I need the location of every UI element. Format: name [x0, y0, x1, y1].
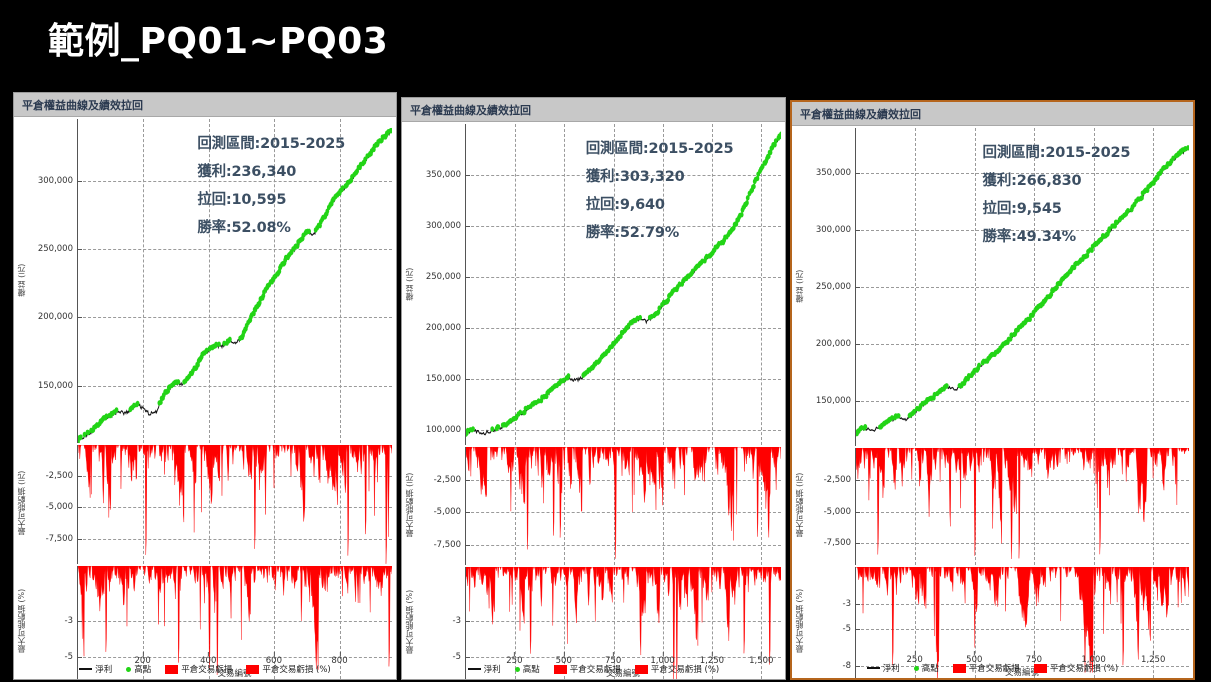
drawdown-abs-plot-area: -2,500-5,000-7,500 — [465, 447, 781, 565]
legend-peak-swatch-icon — [914, 666, 919, 671]
legend-closed-loss-pct: 平倉交易虧損 (%) — [635, 663, 719, 675]
y-tick-label: 350,000 — [426, 170, 466, 180]
drawdown-abs-plot-area: -2,500-5,000-7,500 — [855, 448, 1189, 565]
legend-peak: 高點 — [515, 663, 540, 675]
y-tick-label: -7,500 — [46, 534, 78, 544]
drawdown-abs-plot-area: -2,500-5,000-7,500 — [77, 445, 392, 564]
legend-closed-loss-pct-label: 平倉交易虧損 (%) — [651, 663, 719, 675]
drawdown-abs-svg — [856, 448, 1189, 565]
legend-peak-swatch-icon — [126, 667, 131, 672]
legend-net-profit-label: 淨利 — [883, 662, 900, 674]
y-tick-label: -7,500 — [434, 540, 466, 550]
stat-profit: 獲利:266,830 — [983, 169, 1131, 190]
panel-header-pq03: 平倉權益曲線及績效拉回 — [792, 102, 1193, 126]
legend-closed-loss-swatch-icon — [165, 665, 178, 674]
legend-closed-loss-label: 平倉交易虧損 — [969, 662, 1020, 674]
peak-marker — [79, 434, 83, 439]
legend-peak: 高點 — [126, 663, 151, 675]
stats-annotation-pq02: 回測區間:2015-2025獲利:303,320拉回:9,640勝率:52.79… — [586, 137, 734, 249]
drawdown-abs-subplot-pq03: 最大可能虧損 (元)-2,500-5,000-7,500 — [792, 446, 1193, 565]
stat-winrate: 勝率:49.34% — [983, 225, 1131, 246]
drawdown-abs-svg — [466, 447, 781, 565]
legend-closed-loss-swatch-icon — [953, 664, 966, 673]
y-tick-label: 250,000 — [426, 272, 466, 282]
legend-closed-loss-label: 平倉交易虧損 — [570, 663, 621, 675]
equity-subplot-pq02: 權益 (元)100,000150,000200,000250,000300,00… — [402, 122, 785, 445]
peak-marker — [945, 383, 949, 388]
chart-legend-pq03: 淨利高點平倉交易虧損平倉交易虧損 (%) — [792, 660, 1193, 676]
y-tick-label: 200,000 — [426, 323, 466, 333]
legend-peak-swatch-icon — [515, 667, 520, 672]
drawdown-abs-svg — [78, 445, 392, 564]
y-tick-label: 250,000 — [816, 282, 856, 292]
y-tick-label: 150,000 — [816, 396, 856, 406]
peak-marker — [115, 407, 119, 412]
y-tick-label: -5 — [843, 624, 856, 634]
panel-body-pq01: 權益 (元)150,000200,000250,000300,000回測區間:2… — [14, 117, 396, 679]
stat-profit: 獲利:303,320 — [586, 165, 734, 186]
drawdown-pct-y-axis-title: 最大可能虧損 (%) — [794, 589, 805, 653]
legend-closed-loss: 平倉交易虧損 — [554, 663, 621, 675]
peak-marker — [490, 426, 494, 431]
peak-marker — [497, 424, 501, 429]
legend-net-profit-swatch-icon — [468, 668, 481, 670]
stat-period: 回測區間:2015-2025 — [586, 137, 734, 158]
chart-stack-pq03: 權益 (元)150,000200,000250,000300,000350,00… — [792, 126, 1193, 678]
y-tick-label: 350,000 — [816, 168, 856, 178]
panel-body-pq02: 權益 (元)100,000150,000200,000250,000300,00… — [402, 122, 785, 679]
peak-marker — [176, 379, 180, 384]
legend-peak-label: 高點 — [523, 663, 540, 675]
panel-body-pq03: 權益 (元)150,000200,000250,000300,000350,00… — [792, 126, 1193, 678]
y-tick-label: -3 — [65, 616, 78, 626]
drawdown-abs-subplot-pq01: 最大可能虧損 (元)-2,500-5,000-7,500 — [14, 443, 396, 564]
y-tick-label: 300,000 — [816, 225, 856, 235]
legend-peak-label: 高點 — [134, 663, 151, 675]
legend-closed-loss: 平倉交易虧損 — [165, 663, 232, 675]
legend-closed-loss: 平倉交易虧損 — [953, 662, 1020, 674]
stat-winrate: 勝率:52.79% — [586, 221, 734, 242]
legend-peak-label: 高點 — [922, 662, 939, 674]
chart-panel-pq02[interactable]: 平倉權益曲線及績效拉回權益 (元)100,000150,000200,00025… — [401, 97, 786, 680]
y-tick-label: -5,000 — [46, 502, 78, 512]
y-tick-label: 100,000 — [426, 425, 466, 435]
equity-y-axis-title: 權益 (元) — [404, 267, 415, 300]
stat-drawdown: 拉回:9,640 — [586, 193, 734, 214]
drawdown-abs-y-axis-title: 最大可能虧損 (元) — [404, 473, 415, 538]
legend-net-profit: 淨利 — [79, 663, 112, 675]
legend-net-profit-label: 淨利 — [484, 663, 501, 675]
legend-closed-loss-pct-swatch-icon — [246, 665, 259, 674]
peak-marker — [638, 315, 642, 320]
legend-closed-loss-pct-swatch-icon — [635, 665, 648, 674]
legend-net-profit-swatch-icon — [79, 668, 92, 670]
peak-marker — [567, 373, 571, 378]
chart-panel-pq01[interactable]: 平倉權益曲線及績效拉回權益 (元)150,000200,000250,00030… — [13, 92, 397, 680]
peak-marker — [745, 200, 749, 205]
drawdown-abs-y-axis-title: 最大可能虧損 (元) — [794, 473, 805, 538]
peak-marker — [897, 413, 901, 418]
page-title: 範例_PQ01~PQ03 — [48, 12, 388, 64]
panel-header-pq02: 平倉權益曲線及績效拉回 — [402, 98, 785, 122]
y-tick-label: 150,000 — [38, 381, 78, 391]
stat-period: 回測區間:2015-2025 — [983, 141, 1131, 162]
drawdown-pct-y-axis-title: 最大可能虧損 (%) — [16, 589, 27, 653]
legend-closed-loss-pct-label: 平倉交易虧損 (%) — [262, 663, 330, 675]
y-tick-label: 150,000 — [426, 374, 466, 384]
y-tick-label: -2,500 — [824, 475, 856, 485]
equity-plot-area: 150,000200,000250,000300,000350,000回測區間:… — [855, 128, 1189, 446]
equity-y-axis-title: 權益 (元) — [16, 264, 27, 297]
legend-net-profit: 淨利 — [468, 663, 501, 675]
legend-net-profit-label: 淨利 — [95, 663, 112, 675]
chart-panel-pq03[interactable]: 平倉權益曲線及績效拉回權益 (元)150,000200,000250,00030… — [790, 100, 1195, 680]
legend-closed-loss-swatch-icon — [554, 665, 567, 674]
peak-marker — [740, 212, 744, 217]
equity-plot-area: 150,000200,000250,000300,000回測區間:2015-20… — [77, 119, 392, 443]
drawdown-abs-y-axis-title: 最大可能虧損 (元) — [16, 471, 27, 536]
chart-panels-row: 平倉權益曲線及績效拉回權益 (元)150,000200,000250,00030… — [13, 92, 1199, 680]
legend-closed-loss-pct-swatch-icon — [1034, 664, 1047, 673]
legend-peak: 高點 — [914, 662, 939, 674]
peak-marker — [228, 337, 232, 342]
drawdown-pct-y-axis-title: 最大可能虧損 (%) — [404, 590, 415, 654]
peak-marker — [518, 410, 522, 415]
y-tick-label: 200,000 — [816, 339, 856, 349]
peak-marker — [977, 363, 981, 368]
stat-drawdown: 拉回:9,545 — [983, 197, 1131, 218]
drawdown-abs-area — [78, 445, 392, 564]
chart-legend-pq02: 淨利高點平倉交易虧損平倉交易虧損 (%) — [402, 661, 785, 677]
y-tick-label: -5,000 — [824, 507, 856, 517]
peak-marker — [752, 184, 756, 189]
y-tick-label: 300,000 — [38, 176, 78, 186]
stat-profit: 獲利:236,340 — [197, 160, 345, 181]
y-tick-label: -7,500 — [824, 538, 856, 548]
drawdown-abs-subplot-pq02: 最大可能虧損 (元)-2,500-5,000-7,500 — [402, 445, 785, 565]
legend-closed-loss-pct-label: 平倉交易虧損 (%) — [1050, 662, 1118, 674]
y-tick-label: 200,000 — [38, 312, 78, 322]
y-tick-label: 250,000 — [38, 244, 78, 254]
peak-marker — [1140, 195, 1144, 200]
y-tick-label: -2,500 — [434, 475, 466, 485]
legend-net-profit: 淨利 — [867, 662, 900, 674]
y-tick-label: -2,500 — [46, 471, 78, 481]
chart-stack-pq02: 權益 (元)100,000150,000200,000250,000300,00… — [402, 122, 785, 679]
y-tick-label: 300,000 — [426, 221, 466, 231]
stat-winrate: 勝率:52.08% — [197, 216, 345, 237]
y-tick-label: -3 — [843, 599, 856, 609]
peak-marker — [863, 424, 867, 429]
y-tick-label: -3 — [453, 616, 466, 626]
equity-subplot-pq01: 權益 (元)150,000200,000250,000300,000回測區間:2… — [14, 117, 396, 443]
stats-annotation-pq03: 回測區間:2015-2025獲利:266,830拉回:9,545勝率:49.34… — [983, 141, 1131, 253]
legend-closed-loss-pct: 平倉交易虧損 (%) — [246, 663, 330, 675]
legend-net-profit-swatch-icon — [867, 667, 880, 669]
drawdown-abs-area — [466, 447, 781, 559]
equity-y-axis-title: 權益 (元) — [794, 270, 805, 303]
stat-drawdown: 拉回:10,595 — [197, 188, 345, 209]
stat-period: 回測區間:2015-2025 — [197, 132, 345, 153]
peak-marker — [136, 401, 140, 406]
chart-stack-pq01: 權益 (元)150,000200,000250,000300,000回測區間:2… — [14, 117, 396, 679]
y-tick-label: -5,000 — [434, 507, 466, 517]
chart-legend-pq01: 淨利高點平倉交易虧損平倉交易虧損 (%) — [14, 661, 396, 677]
equity-subplot-pq03: 權益 (元)150,000200,000250,000300,000350,00… — [792, 126, 1193, 446]
drawdown-abs-area — [856, 448, 1189, 559]
peak-marker — [217, 341, 221, 346]
legend-closed-loss-label: 平倉交易虧損 — [181, 663, 232, 675]
peak-marker — [471, 426, 475, 431]
legend-closed-loss-pct: 平倉交易虧損 (%) — [1034, 662, 1118, 674]
panel-header-pq01: 平倉權益曲線及績效拉回 — [14, 93, 396, 117]
equity-plot-area: 100,000150,000200,000250,000300,000350,0… — [465, 124, 781, 445]
stats-annotation-pq01: 回測區間:2015-2025獲利:236,340拉回:10,595勝率:52.0… — [197, 132, 345, 244]
